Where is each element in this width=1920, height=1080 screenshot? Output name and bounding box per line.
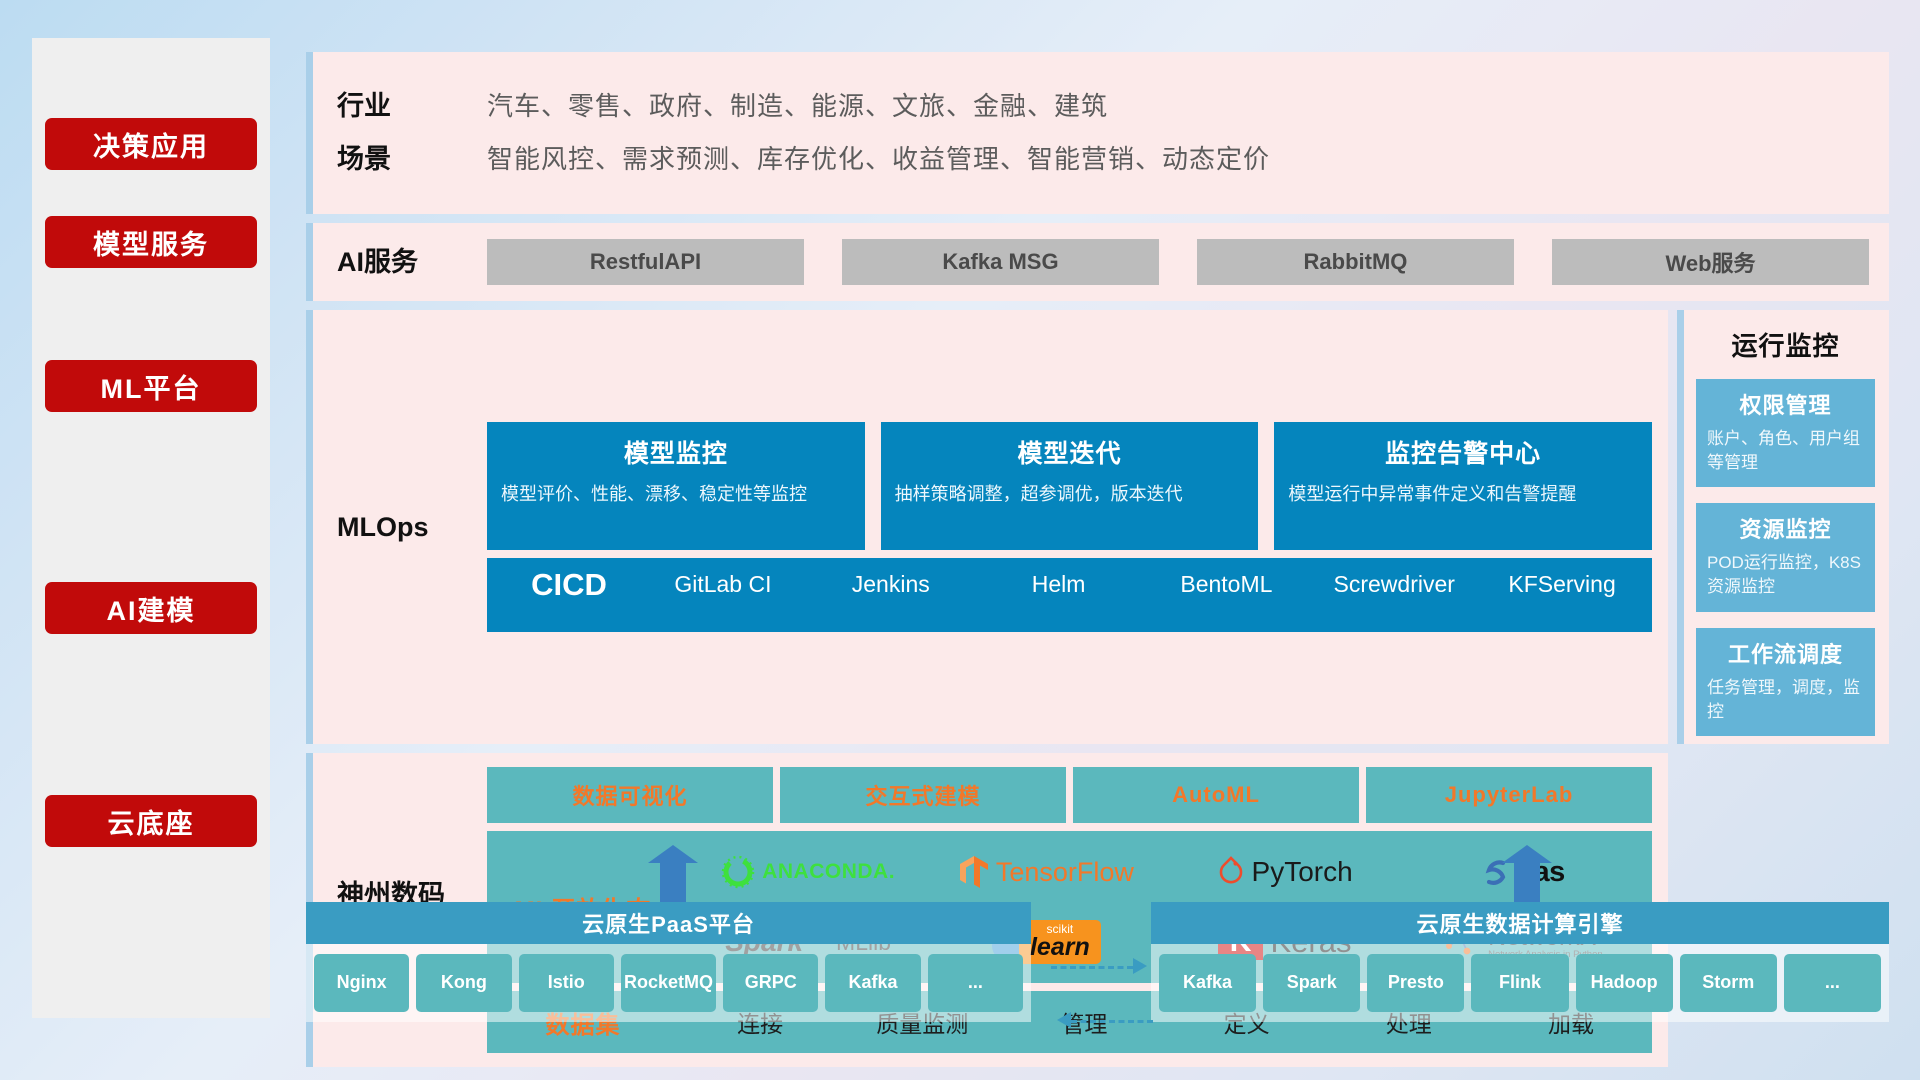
cicd-item-bentoml[interactable]: BentoML — [1142, 566, 1310, 600]
cicd-item-screwdriver[interactable]: Screwdriver — [1310, 566, 1478, 600]
runtime-monitor-title: 运行监控 — [1731, 326, 1839, 363]
card-desc: 抽样策略调整，超参调优，版本迭代 — [895, 481, 1245, 507]
cloud-chip-nginx[interactable]: Nginx — [314, 954, 409, 1012]
modeling-tool-row: 数据可视化 交互式建模 AutoML JupyterLab — [487, 767, 1652, 823]
ai-service-chip-restfulapi[interactable]: RestfulAPI — [487, 239, 804, 285]
cloud-paas-chips: Nginx Kong Istio RocketMQ GRPC Kafka ... — [306, 944, 1031, 1022]
rail-item-ai-modeling[interactable]: AI建模 — [45, 582, 257, 634]
connector-arrowhead-right — [1133, 958, 1147, 974]
engine-chip-more[interactable]: ... — [1784, 954, 1881, 1012]
cloud-paas-group: 云原生PaaS平台 Nginx Kong Istio RocketMQ GRPC… — [306, 902, 1031, 1022]
ai-service-chip-web-service[interactable]: Web服务 — [1552, 239, 1869, 285]
rail-item-ml-platform[interactable]: ML平台 — [45, 360, 257, 412]
runtime-monitor-panel: 运行监控 权限管理 账户、角色、用户组等管理 资源监控 POD运行监控，K8S资… — [1677, 310, 1889, 744]
cicd-item-helm[interactable]: Helm — [975, 566, 1143, 600]
monitor-card-workflow[interactable]: 工作流调度 任务管理，调度，监控 — [1696, 628, 1875, 736]
tool-chip-interactive-modeling[interactable]: 交互式建模 — [780, 767, 1066, 823]
connector-engine-to-paas — [1071, 1020, 1153, 1023]
card-title: 模型迭代 — [895, 434, 1245, 470]
ai-service-label: AI服务 — [337, 247, 487, 277]
tool-chip-jupyterlab[interactable]: JupyterLab — [1366, 767, 1652, 823]
cloud-data-engine-chips: Kafka Spark Presto Flink Hadoop Storm ..… — [1151, 944, 1889, 1022]
engine-chip-spark[interactable]: Spark — [1263, 954, 1360, 1012]
cloud-data-engine-title: 云原生数据计算引擎 — [1151, 902, 1889, 944]
rail-item-label: ML平台 — [101, 367, 202, 406]
card-desc: 模型运行中异常事件定义和告警提醒 — [1288, 481, 1638, 507]
industry-values: 汽车、零售、政府、制造、能源、文旅、金融、建筑 — [487, 86, 1108, 123]
card-title: 资源监控 — [1707, 512, 1864, 544]
scenario-label: 场景 — [337, 137, 487, 176]
rail-item-decision-apps[interactable]: 决策应用 — [45, 118, 257, 170]
rail-item-label: 决策应用 — [93, 125, 209, 164]
card-desc: 模型评价、性能、漂移、稳定性等监控 — [501, 481, 851, 507]
card-desc: 任务管理，调度，监控 — [1707, 676, 1864, 724]
card-desc: POD运行监控，K8S资源监控 — [1707, 551, 1864, 599]
rail-item-cloud-base[interactable]: 云底座 — [45, 795, 257, 847]
cloud-data-engine-group: 云原生数据计算引擎 Kafka Spark Presto Flink Hadoo… — [1151, 902, 1889, 1022]
tool-chip-data-visualization[interactable]: 数据可视化 — [487, 767, 773, 823]
mlops-band: MLOps 模型监控 模型评价、性能、漂移、稳定性等监控 模型迭代 抽样策略调整… — [306, 310, 1668, 744]
engine-chip-flink[interactable]: Flink — [1471, 954, 1568, 1012]
card-title: 工作流调度 — [1707, 637, 1864, 669]
engine-chip-hadoop[interactable]: Hadoop — [1576, 954, 1673, 1012]
cloud-chip-kafka[interactable]: Kafka — [825, 954, 920, 1012]
monitor-card-resource[interactable]: 资源监控 POD运行监控，K8S资源监控 — [1696, 503, 1875, 611]
ai-service-band: AI服务 RestfulAPI Kafka MSG RabbitMQ Web服务 — [306, 223, 1889, 301]
ml-platform-row: MLOps 模型监控 模型评价、性能、漂移、稳定性等监控 模型迭代 抽样策略调整… — [306, 310, 1889, 744]
connector-arrowhead-left — [1057, 1012, 1071, 1028]
card-desc: 账户、角色、用户组等管理 — [1707, 427, 1864, 475]
connector-paas-to-engine — [1051, 966, 1133, 969]
stack-layer-rail: 决策应用 模型服务 ML平台 AI建模 云底座 — [32, 38, 270, 1018]
rail-item-model-service[interactable]: 模型服务 — [45, 216, 257, 268]
ai-service-chip-strip: RestfulAPI Kafka MSG RabbitMQ Web服务 — [487, 239, 1869, 285]
ai-service-chip-kafka-msg[interactable]: Kafka MSG — [842, 239, 1159, 285]
cloud-chip-rocketmq[interactable]: RocketMQ — [621, 954, 716, 1012]
monitor-card-permission[interactable]: 权限管理 账户、角色、用户组等管理 — [1696, 379, 1875, 487]
engine-chip-presto[interactable]: Presto — [1367, 954, 1464, 1012]
cloud-paas-title: 云原生PaaS平台 — [306, 902, 1031, 944]
cloud-foundation-area: 云原生PaaS平台 Nginx Kong Istio RocketMQ GRPC… — [306, 880, 1889, 1058]
cloud-chip-kong[interactable]: Kong — [416, 954, 511, 1012]
mlops-card-model-iteration[interactable]: 模型迭代 抽样策略调整，超参调优，版本迭代 — [881, 422, 1259, 550]
scenario-values: 智能风控、需求预测、库存优化、收益管理、智能营销、动态定价 — [487, 139, 1270, 176]
cicd-bar: CICD GitLab CI Jenkins Helm BentoML Scre… — [487, 558, 1652, 632]
mlops-card-model-monitoring[interactable]: 模型监控 模型评价、性能、漂移、稳定性等监控 — [487, 422, 865, 550]
tool-chip-automl[interactable]: AutoML — [1073, 767, 1359, 823]
card-title: 模型监控 — [501, 434, 851, 470]
ai-service-chip-rabbitmq[interactable]: RabbitMQ — [1197, 239, 1514, 285]
industry-label: 行业 — [337, 84, 487, 123]
industry-row: 行业 汽车、零售、政府、制造、能源、文旅、金融、建筑 — [337, 84, 1879, 123]
rail-item-label: 模型服务 — [93, 223, 209, 262]
cloud-chip-more[interactable]: ... — [928, 954, 1023, 1012]
scenario-row: 场景 智能风控、需求预测、库存优化、收益管理、智能营销、动态定价 — [337, 137, 1879, 176]
rail-item-label: AI建模 — [107, 589, 196, 628]
cicd-item-jenkins[interactable]: Jenkins — [807, 566, 975, 600]
mlops-card-alert-center[interactable]: 监控告警中心 模型运行中异常事件定义和告警提醒 — [1274, 422, 1652, 550]
decision-apps-band: 行业 汽车、零售、政府、制造、能源、文旅、金融、建筑 场景 智能风控、需求预测、… — [306, 52, 1889, 214]
engine-chip-kafka[interactable]: Kafka — [1159, 954, 1256, 1012]
engine-chip-storm[interactable]: Storm — [1680, 954, 1777, 1012]
cicd-label: CICD — [499, 566, 639, 605]
cloud-chip-istio[interactable]: Istio — [519, 954, 614, 1012]
cicd-item-kfserving[interactable]: KFServing — [1478, 566, 1646, 600]
mlops-label: MLOps — [337, 512, 487, 542]
rail-item-label: 云底座 — [108, 802, 195, 841]
mlops-content: 模型监控 模型评价、性能、漂移、稳定性等监控 模型迭代 抽样策略调整，超参调优，… — [487, 422, 1652, 632]
mlops-card-row: 模型监控 模型评价、性能、漂移、稳定性等监控 模型迭代 抽样策略调整，超参调优，… — [487, 422, 1652, 550]
cicd-item-gitlab-ci[interactable]: GitLab CI — [639, 566, 807, 600]
card-title: 监控告警中心 — [1288, 434, 1638, 470]
card-title: 权限管理 — [1707, 388, 1864, 420]
cloud-chip-grpc[interactable]: GRPC — [723, 954, 818, 1012]
